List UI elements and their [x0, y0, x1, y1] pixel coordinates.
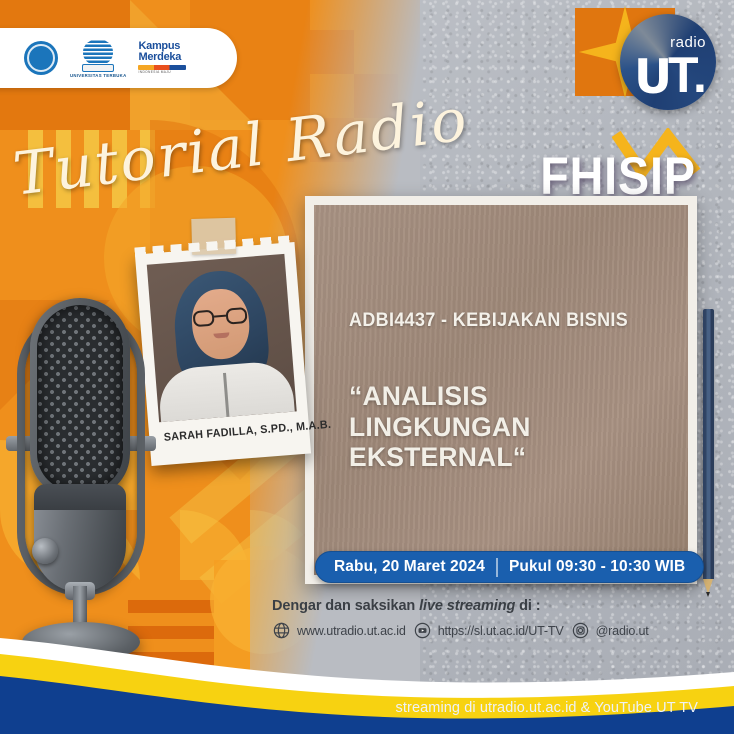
kampus-merdeka-logo: Kampus Merdeka INDONESIA MAJU	[138, 41, 186, 74]
ut-book-icon	[82, 64, 114, 72]
globe-icon	[272, 621, 291, 640]
kampus-merdeka-sub: INDONESIA MAJU	[138, 71, 171, 74]
website-label: www.utradio.ut.ac.id	[297, 624, 406, 638]
ut-logo-radio-word: radio	[670, 34, 706, 51]
bottom-streaming-text: streaming di utradio.ut.ac.id & YouTube …	[396, 700, 698, 716]
channel-instagram[interactable]: @radio.ut	[571, 621, 649, 640]
course-board: ADBI4437 - KEBIJAKAN BISNIS “ANALISIS LI…	[305, 196, 697, 584]
speaker-polaroid: SARAH FADILLA, S.PD., M.A.B.	[135, 242, 311, 466]
streaming-info: Dengar dan saksikan live streaming di : …	[272, 598, 732, 640]
streaming-heading-prefix: Dengar dan saksikan	[272, 598, 419, 614]
ut-logo-caption: UNIVERSITAS TERBUKA	[70, 73, 126, 78]
kampus-merdeka-line2: Merdeka	[138, 52, 181, 63]
mic-mesh-grille	[37, 305, 123, 491]
streaming-heading: Dengar dan saksikan live streaming di :	[272, 598, 732, 614]
ut-logo-u: U	[634, 54, 672, 101]
schedule-separator	[496, 558, 498, 577]
youtube-label: https://sl.ut.ac.id/UT-TV	[438, 624, 564, 638]
universitas-terbuka-logo: UNIVERSITAS TERBUKA	[70, 39, 126, 78]
session-topic: “ANALISIS LINGKUNGAN EKSTERNAL“	[349, 381, 669, 473]
ut-disc-icon	[83, 39, 113, 65]
tutwuri-icon	[24, 41, 58, 75]
ut-logo-t: T.	[668, 50, 707, 100]
poster-canvas: U T. radio UNIVERSITAS TERBUKA Kampus Me…	[0, 0, 734, 734]
speaker-photo	[147, 254, 297, 422]
tutwuri-logo	[24, 41, 58, 75]
mic-band	[34, 484, 126, 510]
schedule-banner: Rabu, 20 Maret 2024 Pukul 09:30 - 10:30 …	[315, 551, 704, 583]
schedule-time: Pukul 09:30 - 10:30 WIB	[509, 558, 685, 576]
streaming-heading-emphasis: live streaming	[419, 598, 515, 614]
youtube-icon	[413, 621, 432, 640]
speaker-name: SARAH FADILLA, S.PD., M.A.B.	[163, 422, 295, 444]
schedule-date: Rabu, 20 Maret 2024	[334, 558, 485, 576]
channel-website[interactable]: www.utradio.ut.ac.id	[272, 621, 406, 640]
course-code-title: ADBI4437 - KEBIJAKAN BISNIS	[349, 309, 628, 332]
streaming-heading-suffix: di :	[515, 598, 540, 614]
instagram-label: @radio.ut	[596, 624, 649, 638]
mic-head	[30, 298, 130, 498]
instagram-icon	[571, 621, 590, 640]
pencil-decoration	[703, 309, 714, 579]
ut-radio-logo: U T. radio	[620, 14, 716, 110]
institution-logo-pill: UNIVERSITAS TERBUKA Kampus Merdeka INDON…	[0, 28, 237, 88]
mic-knob	[32, 538, 58, 564]
channel-youtube[interactable]: https://sl.ut.ac.id/UT-TV	[413, 621, 564, 640]
channel-row: www.utradio.ut.ac.id https://sl.ut.ac.id…	[272, 621, 732, 640]
bottom-streaming-bar: streaming di utradio.ut.ac.id & YouTube …	[0, 682, 734, 734]
